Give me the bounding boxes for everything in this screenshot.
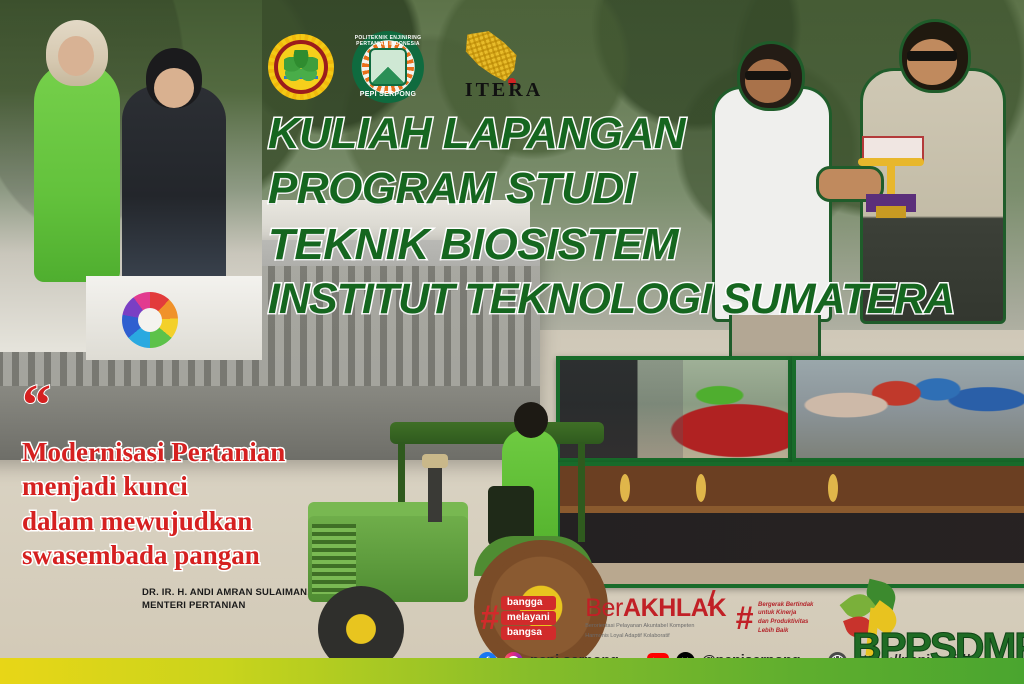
- bangga-text-stack: bangga melayani bangsa: [501, 596, 556, 639]
- hall-emblem-icon: [620, 474, 630, 502]
- header-logos: POLITEKNIK ENJINIRING PERTANIAN INDONESI…: [268, 28, 554, 106]
- pepi-emblem-icon: [371, 50, 405, 84]
- tractor-grill: [312, 524, 356, 594]
- tractor-cab-post: [578, 442, 585, 542]
- bangga-line-1: bangga: [501, 596, 556, 610]
- face: [154, 68, 194, 108]
- quote-mark-icon: “: [22, 388, 372, 423]
- berakhlak-subtitle-2: Harmonis Loyal Adaptif Kolaboratif: [585, 633, 725, 640]
- hash-icon: #: [480, 601, 499, 635]
- bangga-melayani-bangsa-logo: # bangga melayani bangsa: [480, 597, 575, 639]
- tractor-exhaust-cap: [422, 454, 448, 468]
- tractor-exhaust: [428, 464, 442, 522]
- leaf-emblem-icon: [284, 50, 318, 84]
- green-tractor-photo: [278, 420, 608, 684]
- bergerak-line-3: dan Produktivitas: [758, 618, 813, 627]
- page-title: KULIAH LAPANGAN PROGRAM STUDI TEKNIK BIO…: [268, 106, 1024, 326]
- pepi-logo-bottom-text: PEPI SERPONG: [352, 91, 424, 98]
- bergerak-text: Bergerak Bertindak untuk Kinerja dan Pro…: [758, 601, 813, 636]
- face: [907, 39, 957, 85]
- group-photo-hall: [556, 462, 1024, 588]
- bottom-gradient-bar: [0, 658, 1024, 684]
- bangga-line-3: bangsa: [501, 626, 556, 640]
- pepi-serpong-logo-icon: POLITEKNIK ENJINIRING PERTANIAN INDONESI…: [352, 31, 424, 103]
- itera-logo-label: ITERA: [448, 79, 560, 102]
- student-green-uniform-figure: [34, 62, 120, 282]
- glasses-icon: [745, 71, 791, 80]
- title-line-3: TEKNIK BIOSISTEM: [268, 217, 1024, 272]
- bangga-line-2: melayani: [501, 611, 556, 625]
- bergerak-line-4: Lebih Baik: [758, 627, 813, 636]
- kementerian-pertanian-logo-icon: [268, 34, 334, 100]
- workshop-machinery-photo: [792, 356, 1024, 462]
- berakhlak-prefix: Ber: [585, 594, 623, 622]
- title-line-4: INSTITUT TEKNOLOGI SUMATERA: [268, 272, 1024, 326]
- photo-content: [796, 360, 1024, 458]
- berakhlak-logo: BerAKHLAK Berorientasi Pelayanan Akuntab…: [585, 596, 725, 639]
- title-line-1: KULIAH LAPANGAN: [268, 106, 1024, 161]
- hall-emblem-icon: [696, 474, 706, 502]
- title-line-2: PROGRAM STUDI: [268, 161, 1024, 216]
- glasses-icon: [907, 51, 957, 61]
- poster-root: POLITEKNIK ENJINIRING PERTANIAN INDONESI…: [0, 0, 1024, 684]
- pepi-logo-top-text: POLITEKNIK ENJINIRING PERTANIAN INDONESI…: [352, 35, 424, 47]
- hall-emblem-icon: [828, 474, 838, 502]
- bergerak-line-1: Bergerak Bertindak: [758, 601, 813, 610]
- student-dark-jacket-figure: [122, 86, 226, 286]
- driver-head: [514, 402, 548, 438]
- bergerak-line-2: untuk Kinerja: [758, 609, 813, 618]
- itera-logo-icon: ITERA: [442, 28, 554, 106]
- hash-icon: #: [735, 602, 753, 634]
- berakhlak-subtitle-1: Berorientasi Pelayanan Akuntabel Kompete…: [585, 623, 725, 630]
- students-on-harvester-photo: [0, 0, 262, 352]
- face: [745, 59, 791, 103]
- footer-campaign-logos: # bangga melayani bangsa BerAKHLAK Beror…: [480, 592, 840, 644]
- face: [58, 36, 94, 76]
- rainbow-circle-logo-icon: [122, 292, 178, 348]
- bergerak-bertindak-logo: # Bergerak Bertindak untuk Kinerja dan P…: [735, 601, 840, 636]
- tractor-cab-roof: [390, 422, 604, 444]
